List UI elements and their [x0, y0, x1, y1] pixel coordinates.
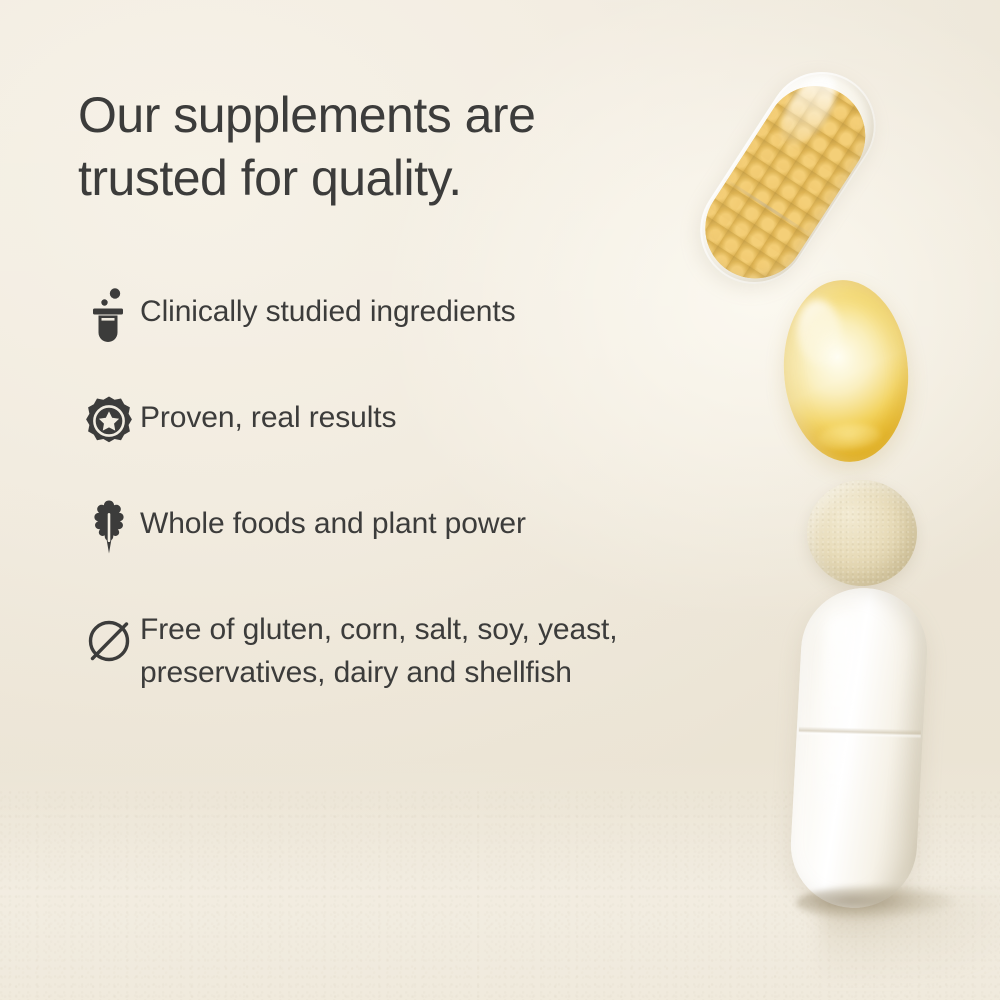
softgel-lower-glow	[818, 422, 882, 452]
feature-item-clinically-studied: Clinically studied ingredients	[78, 284, 718, 344]
feature-label: Clinically studied ingredients	[140, 284, 516, 334]
promo-page: Our supplements are trusted for quality.…	[0, 0, 1000, 1000]
award-badge-star-icon	[78, 392, 140, 450]
feature-item-proven-results: Proven, real results	[78, 390, 718, 450]
softgel-highlight	[795, 298, 843, 367]
feature-label: Proven, real results	[140, 390, 396, 440]
feature-label: Whole foods and plant power	[140, 496, 526, 546]
caplet-contact-shadow	[796, 886, 956, 920]
white-oblong-caplet	[788, 585, 931, 911]
feature-list: Clinically studied ingredients Proven, r…	[78, 284, 718, 694]
leaf-icon	[78, 498, 140, 556]
stacked-supplements-photo	[700, 0, 1000, 1000]
free-of-slashed-circle-icon	[78, 612, 140, 670]
content-column: Our supplements are trusted for quality.…	[78, 84, 718, 210]
feature-label: Free of gluten, corn, salt, soy, yeast, …	[140, 602, 718, 694]
golden-softgel-capsule	[778, 276, 914, 466]
feature-item-whole-foods: Whole foods and plant power	[78, 496, 718, 556]
caplet-score-line	[799, 726, 921, 738]
caplet-highlight	[815, 612, 859, 814]
page-title: Our supplements are trusted for quality.	[78, 84, 718, 210]
round-cream-tablet	[807, 480, 917, 586]
test-tube-icon	[78, 286, 140, 344]
feature-item-free-of: Free of gluten, corn, salt, soy, yeast, …	[78, 602, 718, 694]
